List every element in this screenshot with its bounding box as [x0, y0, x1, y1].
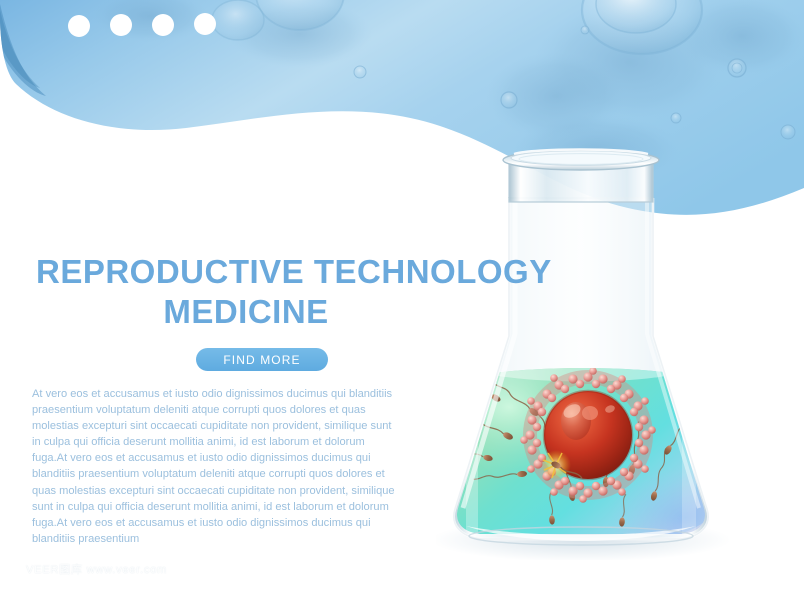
body-paragraph: At vero eos et accusamus et iusto odio d… [32, 386, 398, 547]
headline-line-2: MEDICINE [36, 292, 456, 332]
decor-dot-3 [152, 14, 174, 36]
erlenmeyer-flask-illustration [436, 140, 776, 560]
page-title: REPRODUCTIVE TECHNOLOGY MEDICINE [36, 252, 496, 332]
decor-dot-2 [110, 14, 132, 36]
decor-dot-4 [194, 13, 216, 35]
headline-line-1: REPRODUCTIVE TECHNOLOGY [36, 252, 496, 292]
find-more-button[interactable]: FIND MORE [196, 348, 328, 371]
poster-canvas: REPRODUCTIVE TECHNOLOGY MEDICINE 中 FIND … [0, 0, 804, 590]
decor-dot-1 [68, 15, 90, 37]
watermark-footer: VEER图库 www.veer.com [26, 561, 167, 577]
